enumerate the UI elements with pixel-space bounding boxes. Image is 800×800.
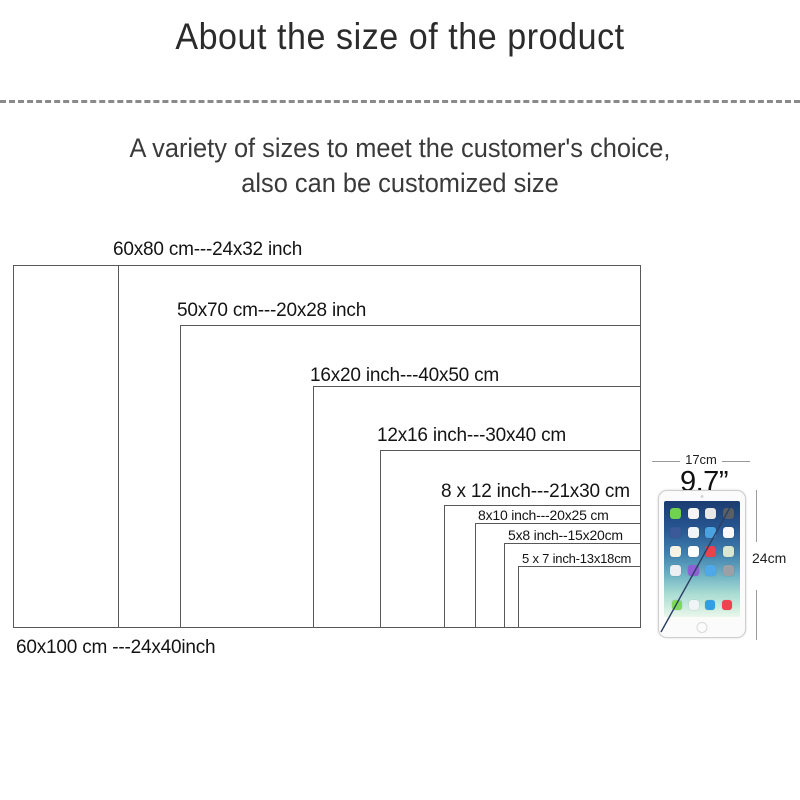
app-icon-calendar: [723, 527, 734, 538]
app-icon-music-dock: [722, 600, 732, 610]
app-icon-grid: [669, 508, 735, 582]
app-icon-appstore: [705, 565, 716, 576]
tablet-reference-group: 17cm 9.7”: [648, 452, 800, 652]
size-chart-page: About the size of the product A variety …: [0, 0, 800, 800]
camera-icon: [701, 495, 704, 498]
app-icon-weather: [705, 527, 716, 538]
app-icon-green: [670, 508, 681, 519]
subtitle-line-1: A variety of sizes to meet the customer'…: [24, 131, 776, 166]
app-icon-mail-dock: [689, 600, 699, 610]
dimension-line-right: [722, 461, 750, 462]
dimension-line-left: [652, 461, 680, 462]
size-label-5x8: 5x8 inch--15x20cm: [508, 527, 623, 543]
dimension-line-top: [756, 490, 757, 542]
page-subtitle: A variety of sizes to meet the customer'…: [24, 131, 776, 201]
app-icon-messages-dock: [672, 600, 682, 610]
size-label-8x12: 8 x 12 inch---21x30 cm: [441, 481, 630, 503]
dashed-divider: [0, 100, 800, 103]
size-label-50x70: 50x70 cm---20x28 inch: [177, 300, 366, 322]
size-label-8x10: 8x10 inch---20x25 cm: [478, 507, 609, 523]
tablet-screen: [664, 501, 740, 617]
tablet-height-label: 24cm: [752, 550, 800, 566]
size-label-16x20: 16x20 inch---40x50 cm: [310, 365, 499, 387]
app-icon-maps: [723, 546, 734, 557]
tablet-width-label: 17cm: [680, 452, 722, 467]
dimension-line-bottom: [756, 590, 757, 640]
app-icon-camera: [705, 508, 716, 519]
app-icon-settings: [723, 508, 734, 519]
app-icon-itunes: [688, 565, 699, 576]
app-icon-music: [705, 546, 716, 557]
app-icon-safari: [688, 527, 699, 538]
app-icon-photos: [688, 508, 699, 519]
page-title: About the size of the product: [32, 16, 768, 58]
tablet-height-dimension: 24cm: [752, 490, 800, 640]
app-icon-safari-dock: [705, 600, 715, 610]
size-label-60x100: 60x100 cm ---24x40inch: [16, 637, 215, 659]
app-icon-notes: [670, 546, 681, 557]
size-label-60x80: 60x80 cm---24x32 inch: [113, 239, 302, 261]
tablet-dock: [669, 598, 735, 612]
size-label-5x7: 5 x 7 inch-13x18cm: [522, 551, 631, 566]
app-icon-clock: [670, 565, 681, 576]
size-label-12x16: 12x16 inch---30x40 cm: [377, 425, 566, 447]
tablet-device: [658, 490, 746, 638]
subtitle-line-2: also can be customized size: [24, 166, 776, 201]
size-rect-5x7: [518, 566, 641, 628]
app-icon-newsstand: [723, 565, 734, 576]
app-icon-facebook: [670, 527, 681, 538]
app-icon-reminders: [688, 546, 699, 557]
home-button-icon: [697, 622, 708, 633]
